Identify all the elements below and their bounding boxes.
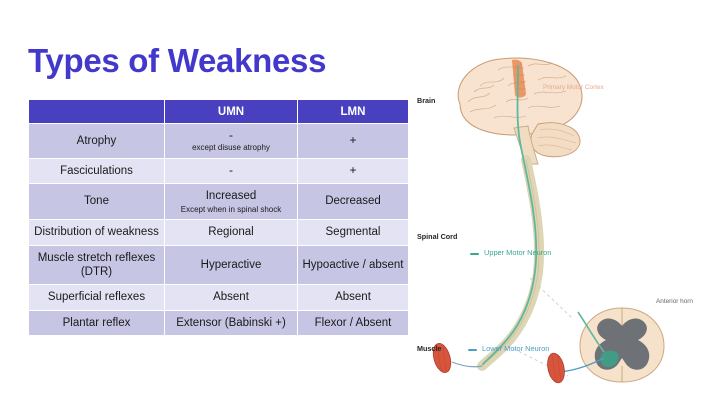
cell-lmn: Hypoactive / absent <box>298 245 409 285</box>
lmn-value: + <box>302 164 404 177</box>
umn-lmn-comparison-table: UMN LMN Atrophy - except disuse atrophy … <box>28 99 409 336</box>
feature-label: Tone <box>33 194 160 208</box>
column-header-feature <box>29 100 165 124</box>
table-row: Atrophy - except disuse atrophy + <box>29 124 409 159</box>
table-row: Plantar reflex Extensor (Babinski +) Fle… <box>29 310 409 335</box>
cell-feature: Plantar reflex <box>29 310 165 335</box>
umn-value: - <box>169 164 293 177</box>
page-title: Types of Weakness <box>28 44 326 77</box>
umn-note: Except when in spinal shock <box>169 205 293 215</box>
table-row: Muscle stretch reflexes (DTR) Hyperactiv… <box>29 245 409 285</box>
table-header: UMN LMN <box>29 100 409 124</box>
upper-motor-neuron-legend-dash <box>470 253 479 255</box>
cell-umn: - <box>165 158 298 183</box>
table-row: Tone Increased Except when in spinal sho… <box>29 184 409 220</box>
spinal-cord-level-label: Spinal Cord <box>417 233 457 240</box>
umn-value: - <box>169 129 293 142</box>
cell-feature: Atrophy <box>29 124 165 159</box>
feature-label: Muscle stretch reflexes (DTR) <box>33 251 160 280</box>
umn-value: Extensor (Babinski +) <box>169 316 293 330</box>
cell-feature: Muscle stretch reflexes (DTR) <box>29 245 165 285</box>
table-header-row: UMN LMN <box>29 100 409 124</box>
table-row: Fasciculations - + <box>29 158 409 183</box>
table-row: Distribution of weakness Regional Segmen… <box>29 220 409 245</box>
lower-motor-neuron-label: Lower Motor Neuron <box>482 345 549 352</box>
cell-lmn: Decreased <box>298 184 409 220</box>
cell-lmn: + <box>298 124 409 159</box>
upper-motor-neuron-label: Upper Motor Neuron <box>484 249 551 256</box>
spinal-cord-cross-section <box>560 308 664 382</box>
cell-lmn: + <box>298 158 409 183</box>
muscle-level-label: Muscle <box>417 345 441 352</box>
lmn-value: Decreased <box>302 194 404 208</box>
feature-label: Fasciculations <box>33 164 160 178</box>
lower-motor-neuron-legend-dash <box>468 349 477 351</box>
column-header-umn: UMN <box>165 100 298 124</box>
diagram-artwork <box>408 46 720 404</box>
brain-illustration <box>458 58 582 164</box>
feature-label: Plantar reflex <box>33 316 160 330</box>
slide-canvas: Types of Weakness UMN LMN Atrophy - exce… <box>0 0 720 404</box>
umn-note: except disuse atrophy <box>169 143 293 153</box>
table-body: Atrophy - except disuse atrophy + Fascic… <box>29 124 409 336</box>
lmn-value: Absent <box>302 290 404 304</box>
cell-umn: Absent <box>165 285 298 310</box>
cell-umn: Regional <box>165 220 298 245</box>
cell-feature: Fasciculations <box>29 158 165 183</box>
lmn-value: Segmental <box>302 225 404 239</box>
column-header-lmn: LMN <box>298 100 409 124</box>
distal-muscle <box>545 352 567 385</box>
lmn-value: Flexor / Absent <box>302 316 404 330</box>
lmn-value: + <box>302 134 404 147</box>
umn-value: Increased <box>169 189 293 203</box>
primary-motor-cortex-label: Primary Motor Cortex <box>543 85 604 91</box>
feature-label: Atrophy <box>33 134 160 148</box>
umn-value: Regional <box>169 225 293 239</box>
cell-lmn: Flexor / Absent <box>298 310 409 335</box>
cell-umn: - except disuse atrophy <box>165 124 298 159</box>
motor-pathway-diagram: Primary Motor Cortex Upper Motor Neuron … <box>408 46 720 404</box>
brain-level-label: Brain <box>417 97 435 104</box>
cell-umn: Extensor (Babinski +) <box>165 310 298 335</box>
cell-umn: Hyperactive <box>165 245 298 285</box>
umn-value: Absent <box>169 290 293 304</box>
cell-feature: Tone <box>29 184 165 220</box>
cell-feature: Distribution of weakness <box>29 220 165 245</box>
feature-label: Distribution of weakness <box>33 225 160 239</box>
table-row: Superficial reflexes Absent Absent <box>29 285 409 310</box>
cell-feature: Superficial reflexes <box>29 285 165 310</box>
cell-lmn: Absent <box>298 285 409 310</box>
lmn-value: Hypoactive / absent <box>302 258 404 272</box>
anterior-horn-label: Anterior horn <box>656 299 693 305</box>
cell-lmn: Segmental <box>298 220 409 245</box>
feature-label: Superficial reflexes <box>33 290 160 304</box>
cell-umn: Increased Except when in spinal shock <box>165 184 298 220</box>
umn-value: Hyperactive <box>169 258 293 272</box>
